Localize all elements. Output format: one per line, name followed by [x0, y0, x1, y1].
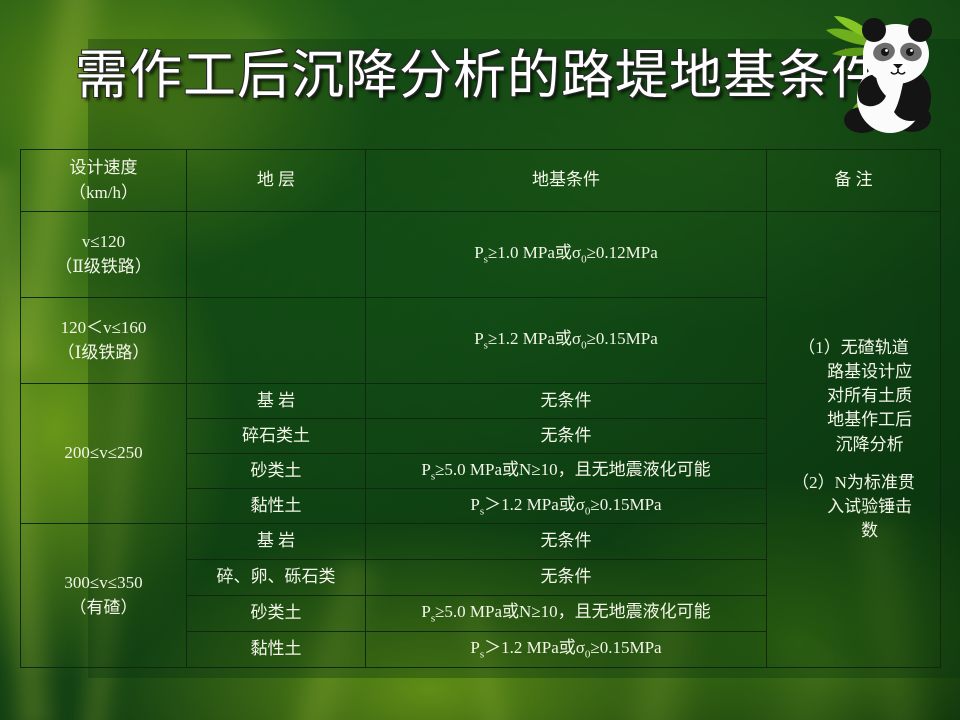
column-header-condition: 地基条件: [366, 150, 767, 212]
cell-condition-none: 无条件: [366, 419, 767, 454]
cond-p: P: [474, 243, 483, 262]
cell-stratum-gravel-mixed: 碎、卵、砾石类: [187, 560, 366, 596]
cell-condition-sand: Ps≥5.0 MPa或N≥10，且无地震液化可能: [366, 596, 767, 632]
slide-canvas: 需作工后沉降分析的路堤地基条件: [0, 0, 960, 720]
note1-line2: 路基设计应: [770, 360, 937, 384]
header-speed-line2: （km/h）: [24, 181, 183, 205]
column-header-stratum: 地 层: [187, 150, 366, 212]
table-row: v≤120 （Ⅱ级铁路） Ps≥1.0 MPa或σ0≥0.12MPa （1）无碴…: [21, 212, 941, 298]
note2-line1: （2）N为标准贯: [770, 471, 937, 495]
cond-mid: ≥1.0 MPa或σ: [488, 243, 581, 262]
cell-speed-v120: v≤120 （Ⅱ级铁路）: [21, 212, 187, 298]
note2-line3: 数: [770, 519, 937, 543]
cond-p: P: [470, 495, 479, 514]
cell-stratum-bedrock: 基 岩: [187, 524, 366, 560]
cond-p: P: [421, 460, 430, 479]
cell-stratum-empty: [187, 212, 366, 298]
cell-speed-v350: 300≤v≤350 （有碴）: [21, 524, 187, 668]
speed-line2: （有碴）: [24, 596, 183, 620]
speed-line1: 300≤v≤350: [24, 571, 183, 595]
speed-line1: 120＜v≤160: [24, 316, 183, 340]
table-header-row: 设计速度 （km/h） 地 层 地基条件 备 注: [21, 150, 941, 212]
speed-line1: 200≤v≤250: [24, 441, 183, 465]
cell-speed-v250: 200≤v≤250: [21, 384, 187, 524]
cell-condition-clay: Ps＞1.2 MPa或σ0≥0.15MPa: [366, 632, 767, 668]
column-header-design-speed: 设计速度 （km/h）: [21, 150, 187, 212]
speed-line2: （Ⅰ级铁路）: [24, 341, 183, 365]
cond-mid: ≥1.2 MPa或σ: [488, 329, 581, 348]
cell-stratum-bedrock: 基 岩: [187, 384, 366, 419]
cell-condition-v160: Ps≥1.2 MPa或σ0≥0.15MPa: [366, 298, 767, 384]
cell-speed-v160: 120＜v≤160 （Ⅰ级铁路）: [21, 298, 187, 384]
cond-rest: ≥5.0 MPa或N≥10，且无地震液化可能: [435, 602, 711, 621]
cond-suffix: ≥0.12MPa: [587, 243, 658, 262]
cell-condition-none: 无条件: [366, 524, 767, 560]
note-spacer: [770, 457, 937, 471]
cell-remarks: （1）无碴轨道 路基设计应 对所有土质 地基作工后 沉降分析 （2）N为标准贯 …: [767, 212, 941, 668]
note1-line5: 沉降分析: [770, 433, 937, 457]
speed-line2: （Ⅱ级铁路）: [24, 255, 183, 279]
cond-suffix: ≥0.15MPa: [587, 329, 658, 348]
cond-p: P: [470, 638, 479, 657]
header-speed-line1: 设计速度: [24, 156, 183, 180]
cond-suffix: ≥0.15MPa: [590, 495, 661, 514]
note1-line3: 对所有土质: [770, 384, 937, 408]
cond-rest: ≥5.0 MPa或N≥10，且无地震液化可能: [435, 460, 711, 479]
cell-stratum-sand: 砂类土: [187, 454, 366, 489]
cell-condition-sand: Ps≥5.0 MPa或N≥10，且无地震液化可能: [366, 454, 767, 489]
cond-suffix: ≥0.15MPa: [590, 638, 661, 657]
column-header-remarks: 备 注: [767, 150, 941, 212]
cond-p: P: [474, 329, 483, 348]
cond-mid: ＞1.2 MPa或σ: [484, 495, 585, 514]
cell-condition-clay: Ps＞1.2 MPa或σ0≥0.15MPa: [366, 489, 767, 524]
cell-condition-v120: Ps≥1.0 MPa或σ0≥0.12MPa: [366, 212, 767, 298]
foundation-conditions-table: 设计速度 （km/h） 地 层 地基条件 备 注 v≤120 （Ⅱ级铁路） Ps…: [20, 149, 941, 668]
cond-mid: ＞1.2 MPa或σ: [484, 638, 585, 657]
note1-line1: （1）无碴轨道: [770, 336, 937, 360]
note1-line4: 地基作工后: [770, 408, 937, 432]
cell-stratum-clay: 黏性土: [187, 632, 366, 668]
cell-condition-none: 无条件: [366, 384, 767, 419]
cell-condition-none: 无条件: [366, 560, 767, 596]
cell-stratum-clay: 黏性土: [187, 489, 366, 524]
cond-p: P: [421, 602, 430, 621]
cell-stratum-sand: 砂类土: [187, 596, 366, 632]
speed-line1: v≤120: [24, 230, 183, 254]
cell-stratum-empty: [187, 298, 366, 384]
panda-icon: [816, 2, 956, 148]
cell-stratum-gravel: 碎石类土: [187, 419, 366, 454]
note2-line2: 入试验锤击: [770, 495, 937, 519]
